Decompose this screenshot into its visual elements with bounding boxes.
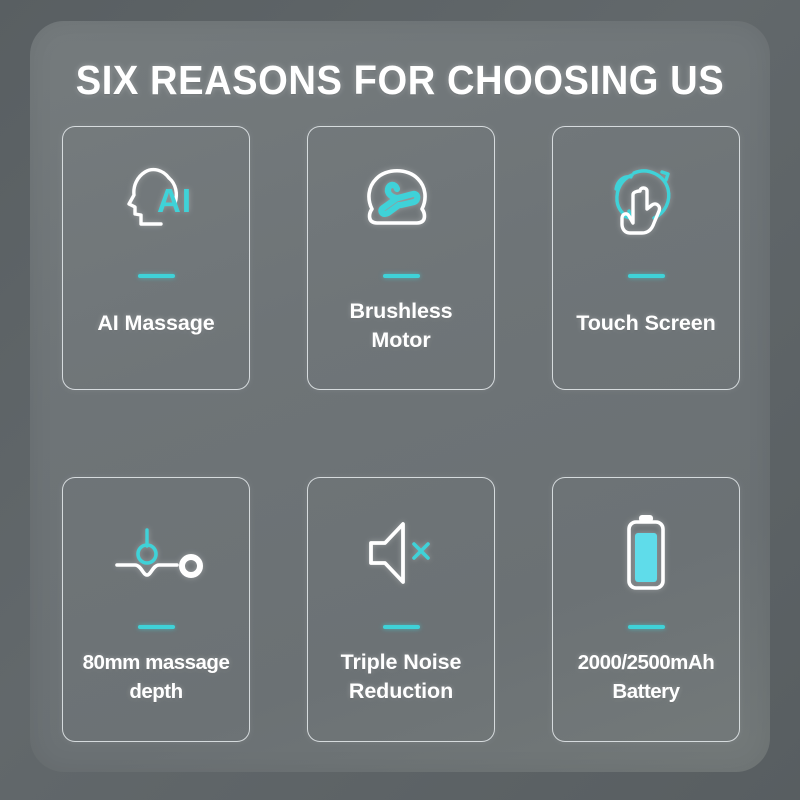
touch-screen-hand-icon [553,155,739,251]
features-grid: AI AI Massage Brushless Motor [62,126,740,742]
feature-label: Triple Noise Reduction [312,648,490,706]
feature-card-noise-reduction[interactable]: Triple Noise Reduction [307,477,495,742]
feature-label: AI Massage [67,309,245,338]
feature-label-line1: 80mm massage [83,651,230,674]
feature-label-line2: Battery [612,680,679,703]
divider-dash [628,625,665,629]
feature-label-line2: Motor [371,328,430,352]
feature-label: 80mm massage depth [61,648,251,706]
divider-dash [383,625,420,629]
feature-label: Touch Screen [557,309,735,338]
feature-label-line1: Triple Noise [341,650,462,674]
divider-dash [628,274,665,278]
divider-dash [138,274,175,278]
feature-label: 2000/2500mAh Battery [551,648,741,706]
massage-depth-icon [63,506,249,602]
feature-card-massage-depth[interactable]: 80mm massage depth [62,477,250,742]
feature-card-brushless-motor[interactable]: Brushless Motor [307,126,495,390]
feature-card-touch-screen[interactable]: Touch Screen [552,126,740,390]
page-title: SIX REASONS FOR CHOOSING US [28,54,772,106]
feature-label-line1: Brushless [349,299,452,323]
feature-card-battery[interactable]: 2000/2500mAh Battery [552,477,740,742]
brushless-motor-icon [308,155,494,251]
battery-icon [553,506,739,602]
svg-text:AI: AI [157,182,192,219]
mute-speaker-icon [308,506,494,602]
ai-head-icon: AI [63,155,249,251]
infographic-root: SIX REASONS FOR CHOOSING US AI AI Massag… [0,0,800,800]
feature-label-line1: 2000/2500mAh [578,651,714,674]
feature-label-line2: depth [129,680,182,703]
divider-dash [383,274,420,278]
feature-label-line2: Reduction [349,679,453,703]
feature-card-ai-massage[interactable]: AI AI Massage [62,126,250,390]
feature-label: Brushless Motor [312,297,490,355]
divider-dash [138,625,175,629]
